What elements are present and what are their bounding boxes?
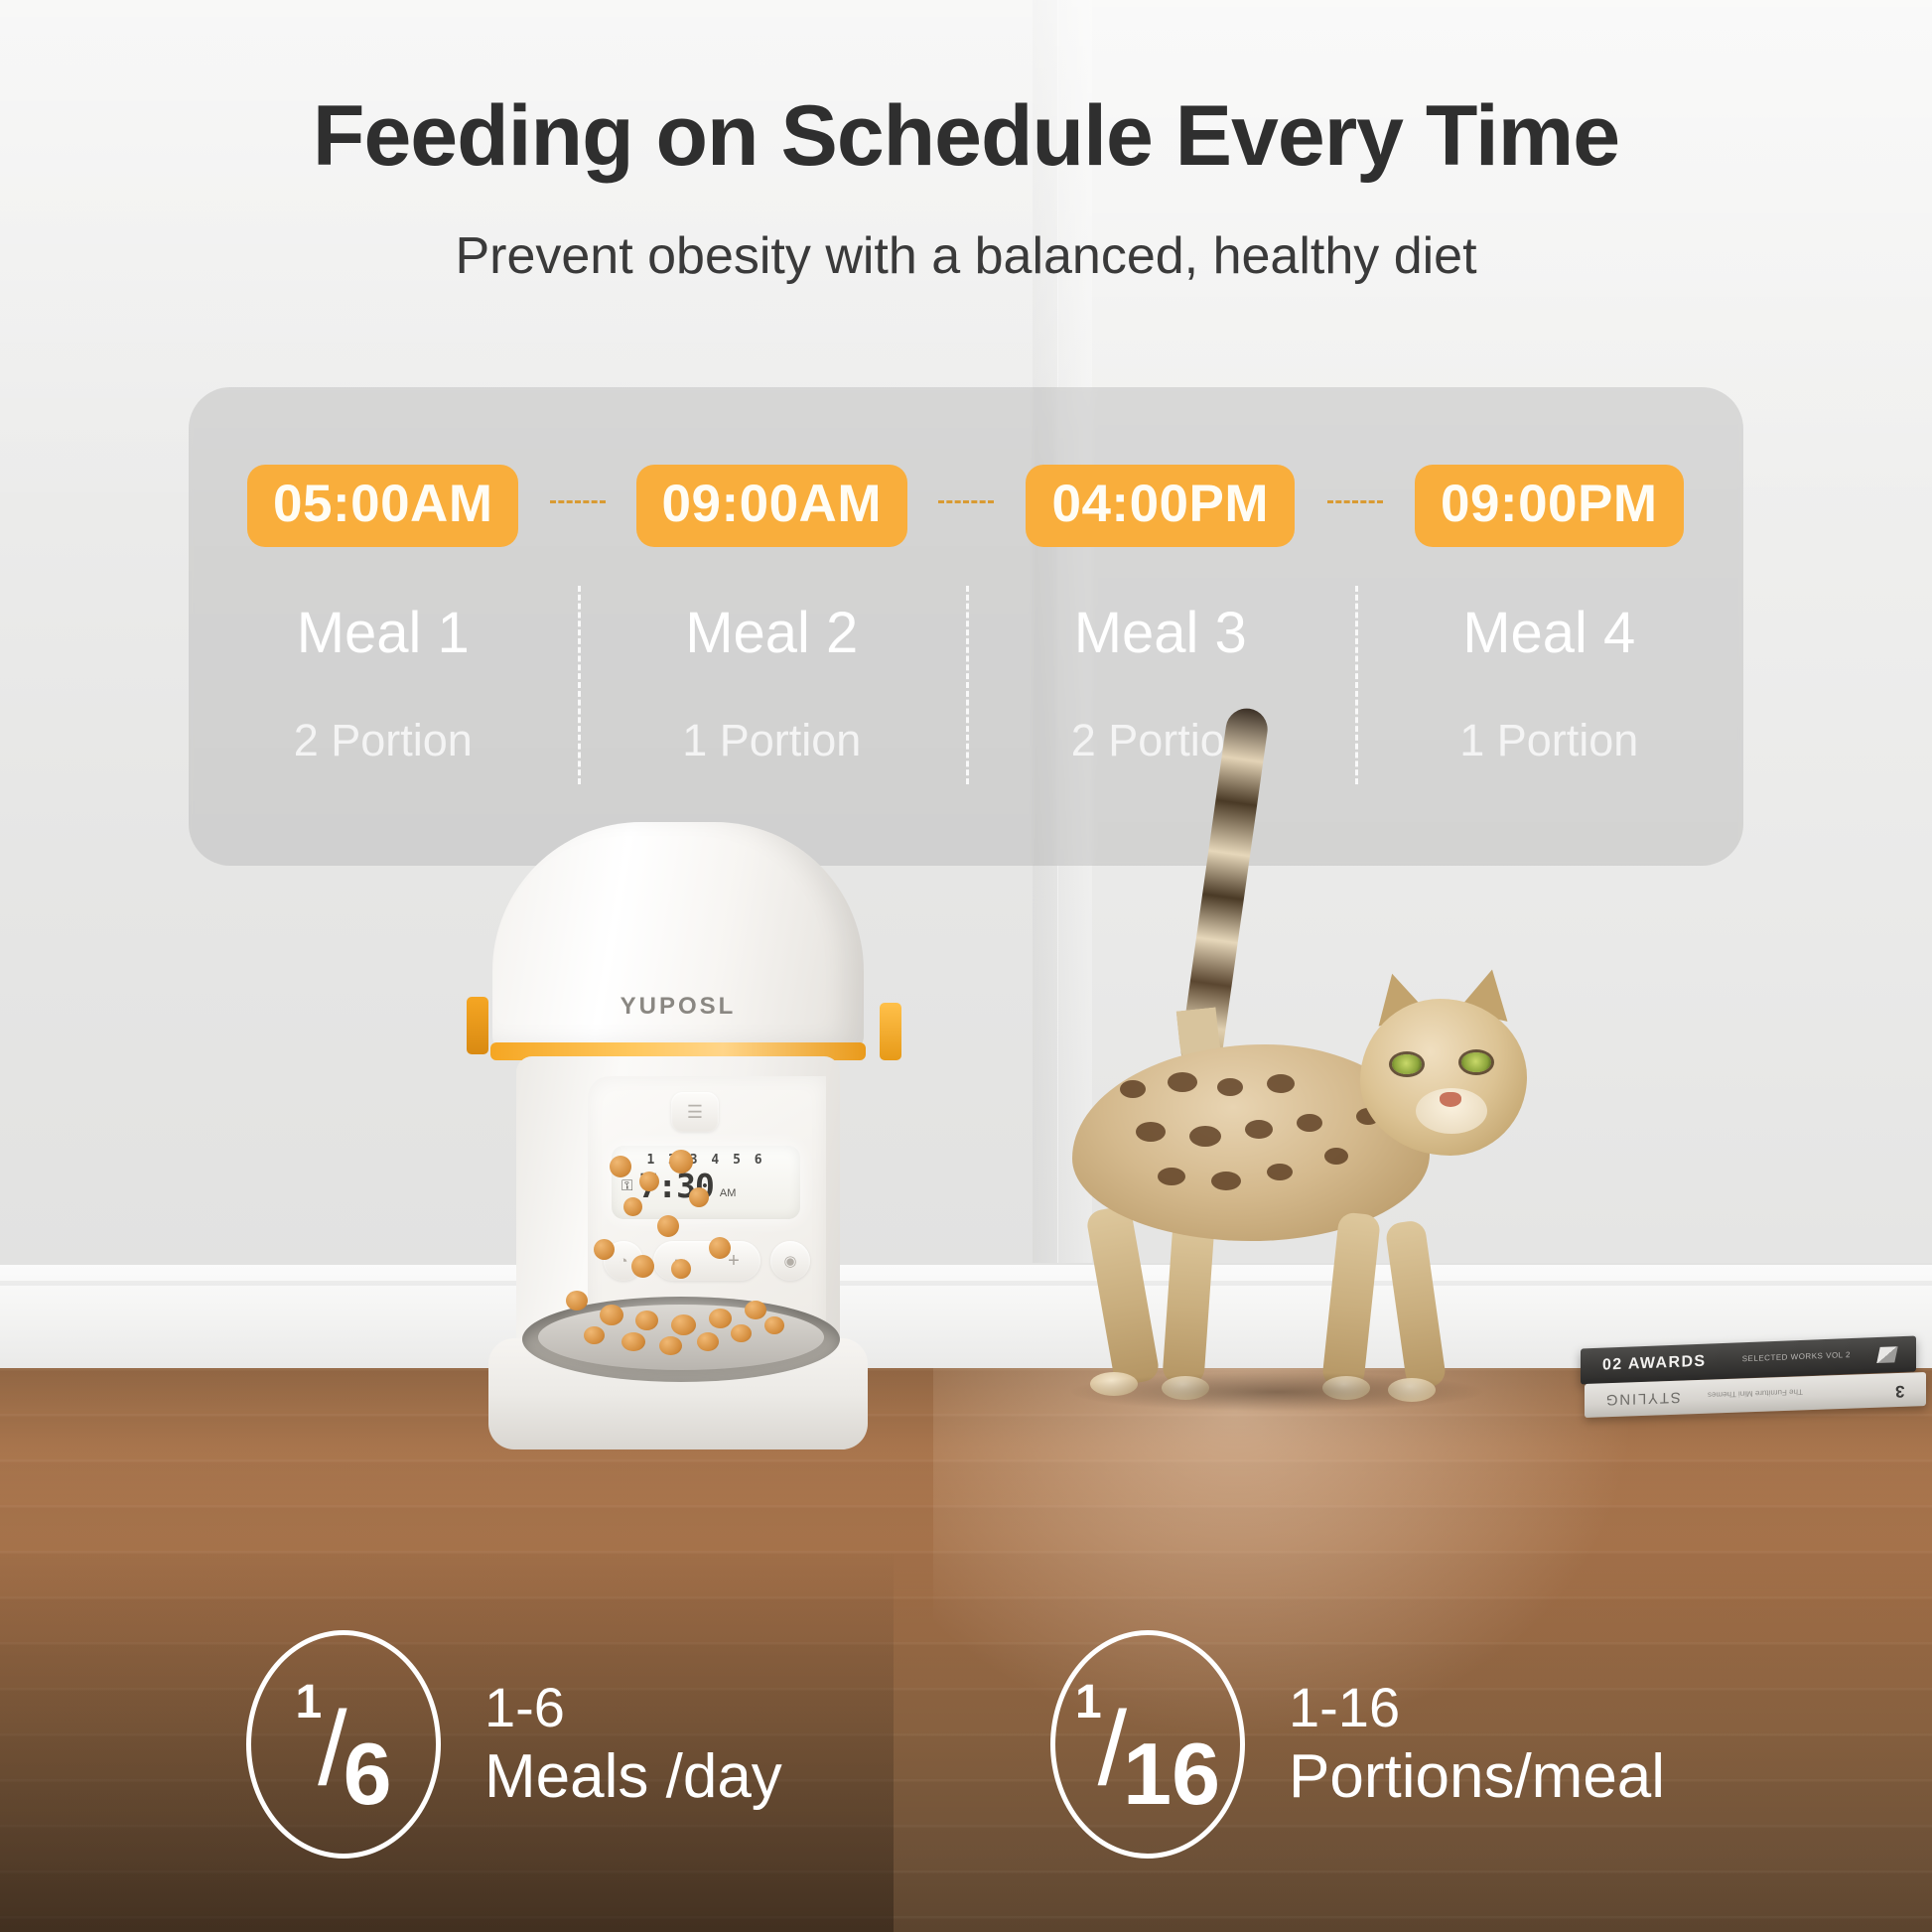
pet-feeder-device: YUPOSL ☰ 1 2 3 4 5 6 ⚿ 7:30 AM ◔ xyxy=(475,822,892,1438)
bengal-cat xyxy=(1033,824,1648,1440)
meal-column-4: 09:00PM Meal 4 1 Portion xyxy=(1355,387,1744,866)
kibble-pellet xyxy=(635,1311,658,1330)
cat-eye-left xyxy=(1392,1054,1422,1074)
page-title: Feeding on Schedule Every Time xyxy=(0,87,1932,186)
kibble-pellet xyxy=(731,1324,752,1342)
meal-name-label: Meal 2 xyxy=(685,605,858,662)
meal-name-label: Meal 1 xyxy=(297,605,470,662)
feature-unit: Portions/meal xyxy=(1289,1740,1665,1813)
book-light-mark: 3 xyxy=(1895,1381,1904,1401)
schedule-connector-dashes xyxy=(550,500,606,503)
lid-clip-right xyxy=(880,1003,901,1060)
feeding-schedule-card: 05:00AM Meal 1 2 Portion 09:00AM Meal 2 … xyxy=(189,387,1743,866)
feature-portions-per-meal: 1 / 16 1-16 Portions/meal xyxy=(1050,1630,1665,1859)
lock-icon: ⚿ xyxy=(621,1177,632,1194)
cat-nose xyxy=(1440,1092,1461,1107)
meal-name-label: Meal 4 xyxy=(1462,605,1635,662)
meal-time-badge: 05:00AM xyxy=(247,465,518,547)
meal-portion-label: 2 Portion xyxy=(294,718,473,762)
record-button[interactable]: ◉ xyxy=(770,1241,810,1281)
feature-unit: Meals /day xyxy=(484,1740,782,1813)
meal-portion-label: 1 Portion xyxy=(1459,718,1638,762)
kibble-pellet xyxy=(623,1197,642,1216)
kibble-pellet xyxy=(566,1291,588,1311)
kibble-pellet xyxy=(594,1239,615,1260)
book-dark-subtitle: SELECTED WORKS VOL 2 xyxy=(1742,1350,1851,1363)
fraction-one-sixth: 1 / 6 xyxy=(251,1635,436,1854)
kibble-pellet xyxy=(709,1309,732,1328)
adjust-buttons[interactable]: − + xyxy=(653,1241,760,1281)
brand-logo: YUPOSL xyxy=(492,993,864,1021)
kibble-pellet xyxy=(764,1316,784,1334)
meal-column-1: 05:00AM Meal 1 2 Portion xyxy=(189,387,578,866)
cat-floor-shadow xyxy=(1068,1372,1485,1412)
fraction-slash: / xyxy=(318,1696,346,1801)
book-dark-title: 02 AWARDS xyxy=(1602,1353,1706,1375)
kibble-pellet xyxy=(709,1237,731,1259)
feature-range: 1-16 xyxy=(1289,1675,1665,1740)
fraction-one-sixteenth: 1 / 16 xyxy=(1055,1635,1240,1854)
kibble-pellet xyxy=(745,1301,766,1319)
meal-time-badge: 09:00AM xyxy=(636,465,907,547)
schedule-connector-dashes xyxy=(1327,500,1383,503)
meal-time-badge: 09:00PM xyxy=(1415,465,1684,547)
fraction-denominator: 6 xyxy=(344,1730,392,1818)
cat-front-leg-left xyxy=(1321,1211,1381,1389)
kibble-pellet xyxy=(621,1332,645,1351)
lcd-day-indicators: 1 2 3 4 5 6 xyxy=(621,1153,790,1168)
feature-text-block: 1-6 Meals /day xyxy=(484,1675,782,1813)
kibble-pellet xyxy=(639,1172,659,1191)
product-infographic: Feeding on Schedule Every Time Prevent o… xyxy=(0,0,1932,1932)
fraction-circle-icon: 1 / 6 xyxy=(246,1630,441,1859)
kibble-pellet xyxy=(669,1150,693,1173)
kibble-pellet xyxy=(659,1336,682,1355)
cat-front-leg-right xyxy=(1385,1219,1448,1390)
feature-text-block: 1-16 Portions/meal xyxy=(1289,1675,1665,1813)
kibble-pellet xyxy=(584,1326,605,1344)
plus-button[interactable]: + xyxy=(728,1250,740,1273)
feature-range: 1-6 xyxy=(484,1675,782,1740)
fraction-circle-icon: 1 / 16 xyxy=(1050,1630,1245,1859)
cat-hind-leg-left xyxy=(1085,1204,1161,1386)
book-light-subtitle: The Furniture Mini Themes xyxy=(1708,1387,1803,1399)
kibble-pellet xyxy=(689,1187,709,1207)
cat-hind-leg-right xyxy=(1162,1218,1214,1386)
schedule-connector-dashes xyxy=(938,500,994,503)
book-light-title: STYLING xyxy=(1604,1389,1681,1409)
lid-clip-left xyxy=(467,997,488,1054)
meal-portion-label: 1 Portion xyxy=(682,718,861,762)
kibble-pellet xyxy=(671,1259,691,1279)
meal-column-2: 09:00AM Meal 2 1 Portion xyxy=(578,387,967,866)
fraction-slash: / xyxy=(1098,1696,1127,1801)
kibble-pellet xyxy=(631,1255,654,1278)
meal-time-badge: 04:00PM xyxy=(1026,465,1295,547)
kibble-pellet xyxy=(610,1156,631,1177)
meal-column-3: 04:00PM Meal 3 2 Portion xyxy=(966,387,1355,866)
book-publisher-icon xyxy=(1876,1346,1897,1363)
kibble-pellet xyxy=(697,1332,719,1351)
fraction-denominator: 16 xyxy=(1123,1730,1220,1818)
feed-button[interactable]: ☰ xyxy=(671,1092,719,1132)
kibble-pellet xyxy=(657,1215,679,1237)
lcd-ampm: AM xyxy=(720,1187,737,1199)
kibble-pellet xyxy=(671,1314,696,1335)
feeder-lid: YUPOSL xyxy=(492,822,864,1050)
page-subtitle: Prevent obesity with a balanced, healthy… xyxy=(0,226,1932,286)
kibble-pellet xyxy=(600,1305,623,1325)
feature-meals-per-day: 1 / 6 1-6 Meals /day xyxy=(246,1630,782,1859)
schedule-grid: 05:00AM Meal 1 2 Portion 09:00AM Meal 2 … xyxy=(189,387,1743,866)
meal-name-label: Meal 3 xyxy=(1074,605,1247,662)
cat-eye-right xyxy=(1461,1052,1491,1072)
